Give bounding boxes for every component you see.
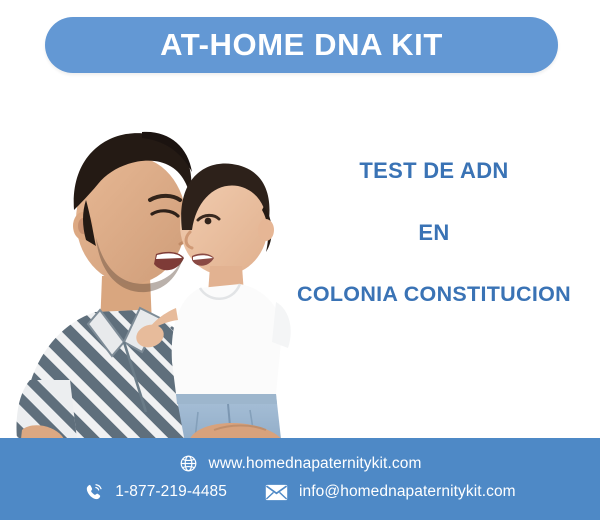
footer-contact-bar: www.homednapaternitykit.com 1-877-219-44… bbox=[0, 438, 600, 520]
phone-icon bbox=[84, 482, 104, 502]
headline-block: TEST DE ADN EN COLONIA CONSTITUCION bbox=[276, 160, 592, 306]
footer-email-item[interactable]: info@homednapaternitykit.com bbox=[265, 483, 516, 501]
envelope-icon bbox=[265, 484, 288, 501]
footer-website-item[interactable]: www.homednapaternitykit.com bbox=[179, 454, 422, 473]
footer-website-label: www.homednapaternitykit.com bbox=[209, 455, 422, 473]
header-banner: AT-HOME DNA KIT bbox=[45, 17, 558, 73]
footer-email-label: info@homednapaternitykit.com bbox=[299, 483, 516, 501]
father-holding-toddler-photo bbox=[0, 80, 300, 448]
headline-line-test-de-adn: TEST DE ADN bbox=[276, 160, 592, 182]
headline-line-en: EN bbox=[276, 222, 592, 244]
headline-line-location: COLONIA CONSTITUCION bbox=[276, 284, 592, 306]
globe-icon bbox=[179, 454, 198, 473]
footer-phone-item[interactable]: 1-877-219-4485 bbox=[84, 482, 227, 502]
poster-canvas: AT-HOME DNA KIT bbox=[0, 0, 600, 520]
footer-contact-row: 1-877-219-4485 info@homednapaternitykit.… bbox=[0, 482, 600, 502]
footer-phone-label: 1-877-219-4485 bbox=[115, 483, 227, 501]
footer-website-row: www.homednapaternitykit.com bbox=[0, 454, 600, 473]
header-title: AT-HOME DNA KIT bbox=[160, 27, 443, 63]
